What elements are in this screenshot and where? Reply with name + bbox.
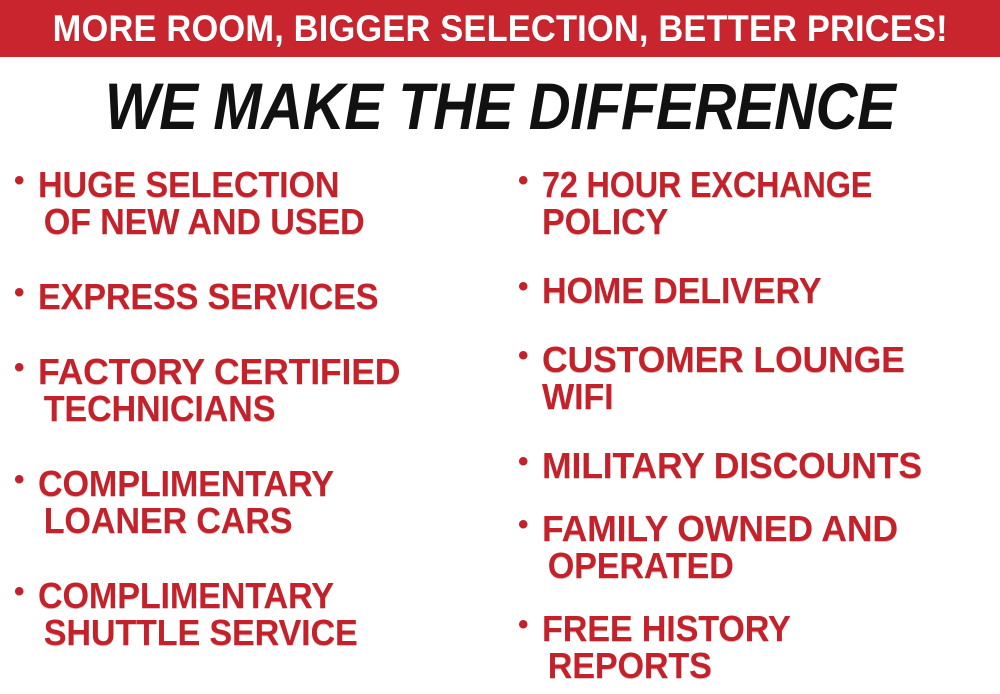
bullet-dot-icon: • — [518, 441, 542, 482]
list-item: • COMPLIMENTARY SHUTTLE SERVICE — [14, 571, 500, 651]
list-item-line: OPERATED — [542, 547, 977, 584]
spacer — [518, 584, 1000, 604]
list-item-line: EXPRESS SERVICES — [38, 278, 477, 315]
bullet-dot-icon: • — [14, 347, 38, 388]
bullet-dot-icon: • — [14, 459, 38, 500]
list-item-line: FACTORY CERTIFIED — [38, 353, 495, 390]
list-item-line: CUSTOMER LOUNGE — [542, 341, 995, 378]
headline-container: WE MAKE THE DIFFERENCE — [0, 70, 1000, 142]
list-item-text: FAMILY OWNED AND OPERATED — [542, 504, 1000, 584]
spacer — [518, 484, 1000, 504]
list-item-text: HUGE SELECTION OF NEW AND USED — [38, 160, 500, 240]
bullet-dot-icon: • — [14, 571, 38, 612]
list-item: • HUGE SELECTION OF NEW AND USED — [14, 160, 500, 240]
list-item-line: HOME DELIVERY — [542, 272, 977, 309]
list-item-line: FAMILY OWNED AND — [542, 510, 995, 547]
spacer — [518, 415, 1000, 441]
banner-headline-text: MORE ROOM, BIGGER SELECTION, BETTER PRIC… — [52, 10, 947, 47]
spacer — [14, 315, 500, 347]
promo-poster: MORE ROOM, BIGGER SELECTION, BETTER PRIC… — [0, 0, 1000, 694]
list-item: • COMPLIMENTARY LOANER CARS — [14, 459, 500, 539]
list-item: • FAMILY OWNED AND OPERATED — [518, 504, 1000, 584]
list-item-line: POLICY — [542, 203, 977, 240]
list-item-text: CUSTOMER LOUNGE WIFI — [542, 335, 1000, 415]
list-item-line: 72 HOUR EXCHANGE — [542, 166, 954, 203]
list-item-text: FACTORY CERTIFIED TECHNICIANS — [38, 347, 500, 427]
list-item: • HOME DELIVERY — [518, 266, 1000, 309]
benefits-columns: • HUGE SELECTION OF NEW AND USED • EXPRE… — [0, 160, 1000, 694]
list-item-line: COMPLIMENTARY — [38, 577, 477, 614]
benefits-column-right: • 72 HOUR EXCHANGE POLICY • HOME DELIVER… — [518, 160, 1000, 694]
list-item-line: COMPLIMENTARY — [38, 465, 477, 502]
list-item-line: LOANER CARS — [38, 502, 477, 539]
list-item: • 72 HOUR EXCHANGE POLICY — [518, 160, 1000, 240]
list-item-text: MILITARY DISCOUNTS — [542, 441, 1000, 484]
spacer — [518, 309, 1000, 335]
list-item: • FACTORY CERTIFIED TECHNICIANS — [14, 347, 500, 427]
list-item-line: OF NEW AND USED — [38, 203, 477, 240]
list-item-text: COMPLIMENTARY SHUTTLE SERVICE — [38, 571, 500, 651]
bullet-dot-icon: • — [14, 160, 38, 201]
list-item-text: HOME DELIVERY — [542, 266, 1000, 309]
spacer — [14, 240, 500, 272]
spacer — [14, 427, 500, 459]
spacer — [14, 539, 500, 571]
list-item: • FREE HISTORY REPORTS — [518, 604, 1000, 684]
bullet-dot-icon: • — [518, 160, 542, 201]
list-item-line: HUGE SELECTION — [38, 166, 477, 203]
bullet-dot-icon: • — [518, 604, 542, 645]
list-item-line: REPORTS — [542, 647, 977, 684]
bullet-dot-icon: • — [518, 335, 542, 376]
list-item-line: SHUTTLE SERVICE — [38, 614, 477, 651]
benefits-column-left: • HUGE SELECTION OF NEW AND USED • EXPRE… — [14, 160, 500, 694]
list-item: • EXPRESS SERVICES — [14, 272, 500, 315]
bullet-dot-icon: • — [518, 266, 542, 307]
top-banner: MORE ROOM, BIGGER SELECTION, BETTER PRIC… — [0, 0, 1000, 57]
spacer — [518, 240, 1000, 266]
list-item-line: WIFI — [542, 378, 977, 415]
list-item: • CUSTOMER LOUNGE WIFI — [518, 335, 1000, 415]
list-item-text: EXPRESS SERVICES — [38, 272, 500, 315]
list-item-text: 72 HOUR EXCHANGE POLICY — [542, 160, 1000, 240]
list-item: • MILITARY DISCOUNTS — [518, 441, 1000, 484]
list-item-text: COMPLIMENTARY LOANER CARS — [38, 459, 500, 539]
page-title: WE MAKE THE DIFFERENCE — [105, 73, 896, 139]
bullet-dot-icon: • — [14, 272, 38, 313]
bullet-dot-icon: • — [518, 504, 542, 545]
list-item-line: TECHNICIANS — [38, 390, 477, 427]
list-item-text: FREE HISTORY REPORTS — [542, 604, 1000, 684]
list-item-line: FREE HISTORY — [542, 610, 977, 647]
list-item-line: MILITARY DISCOUNTS — [542, 447, 995, 484]
